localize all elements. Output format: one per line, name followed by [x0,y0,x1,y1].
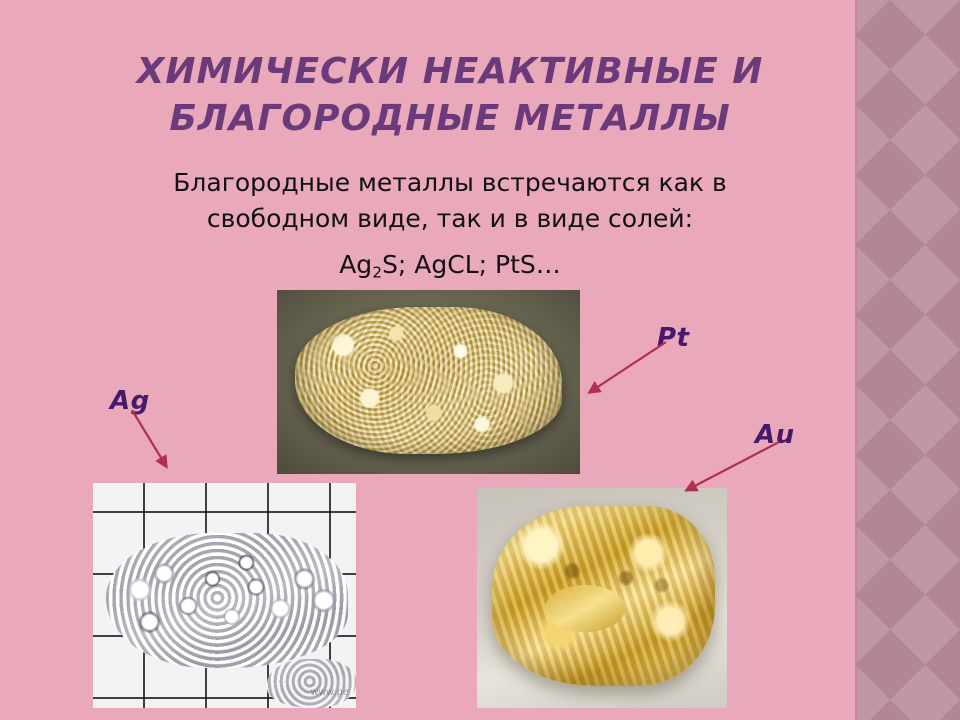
arrow-silver-icon [130,408,190,478]
silver-photo: www.pe [93,483,356,708]
arrow-gold-icon [675,440,785,500]
platinum-photo-vignette [277,290,580,474]
chemical-formula-line: Ag2S; AgCL; PtS… [70,249,830,288]
decorative-side-panel [855,0,960,720]
formula-suffix: S; AgCL; PtS… [382,250,561,279]
panel-edge-line [855,0,857,720]
silver-crystal-fragment [267,659,356,709]
presentation-slide: Химически неактивные и благородные метал… [0,0,960,720]
photo-watermark: www.pe [311,687,349,698]
platinum-photo [277,290,580,474]
formula-subscript: 2 [372,263,382,281]
gold-photo [477,488,727,708]
silver-crystal-shape [106,533,348,668]
slide-title: Химически неактивные и благородные метал… [60,48,840,142]
gold-nugget-shape [492,506,715,686]
gold-nugget-highlight [545,585,625,632]
formula-prefix: Ag [339,250,372,279]
arrow-platinum-icon [580,340,670,400]
slide-subtitle: Благородные металлы встречаются как в св… [70,165,830,237]
